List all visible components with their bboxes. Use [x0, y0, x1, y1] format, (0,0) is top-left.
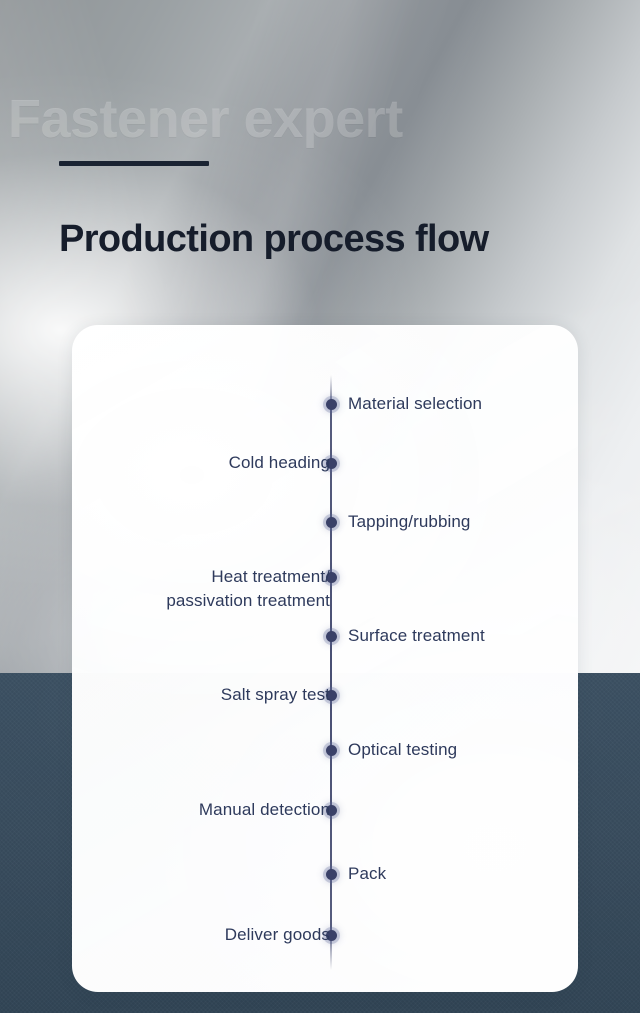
production-process-timeline: Material selectionCold headingTapping/ru… [72, 325, 578, 992]
timeline-step-label: Material selection [348, 392, 482, 416]
timeline-step-label: Heat treatment/ passivation treatment [166, 565, 330, 613]
timeline-step-label: Surface treatment [348, 624, 485, 648]
timeline-dot-icon [326, 631, 337, 642]
timeline-step-label: Tapping/rubbing [348, 510, 470, 534]
timeline-dot-icon [326, 517, 337, 528]
timeline-step-label: Pack [348, 862, 386, 886]
accent-rule-divider [59, 161, 209, 166]
timeline-step-label: Manual detection [199, 798, 330, 822]
timeline-card: Material selectionCold headingTapping/ru… [72, 325, 578, 992]
timeline-dot-icon [326, 869, 337, 880]
timeline-step-label: Optical testing [348, 738, 457, 762]
timeline-step-label: Cold heading [229, 451, 330, 475]
watermark-heading: Fastener expert [8, 92, 403, 146]
timeline-dot-icon [326, 745, 337, 756]
page-title: Production process flow [59, 217, 489, 262]
timeline-step-label: Deliver goods [225, 923, 330, 947]
poster-root: Fastener expert Production process flow … [0, 0, 640, 1013]
timeline-dot-icon [326, 399, 337, 410]
timeline-step-label: Salt spray test [221, 683, 330, 707]
